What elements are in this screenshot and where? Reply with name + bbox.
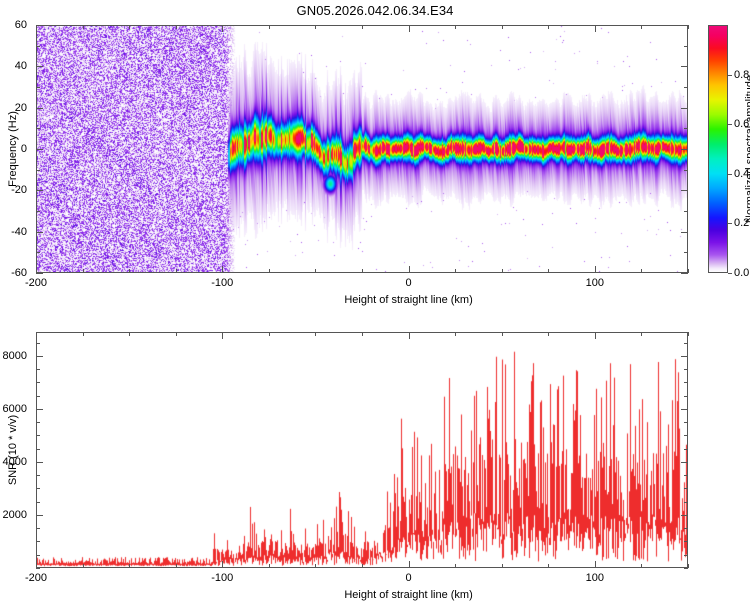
axis-tick bbox=[269, 25, 270, 29]
axis-tick bbox=[362, 564, 363, 568]
snr-ytick-label: 6000 bbox=[0, 403, 27, 415]
axis-tick bbox=[36, 25, 37, 32]
axis-tick bbox=[455, 25, 456, 29]
axis-tick bbox=[681, 25, 688, 26]
axis-tick bbox=[36, 475, 40, 476]
axis-tick bbox=[176, 25, 177, 29]
axis-tick bbox=[641, 332, 642, 336]
axis-tick bbox=[502, 269, 503, 273]
axis-tick bbox=[36, 488, 40, 489]
axis-tick bbox=[83, 332, 84, 336]
axis-tick bbox=[688, 269, 689, 273]
axis-tick bbox=[681, 409, 688, 410]
axis-tick bbox=[684, 382, 688, 383]
axis-tick bbox=[641, 25, 642, 29]
axis-tick bbox=[36, 422, 40, 423]
axis-tick bbox=[36, 555, 40, 556]
axis-tick bbox=[681, 66, 688, 67]
axis-tick bbox=[409, 266, 410, 273]
axis-tick bbox=[688, 25, 689, 29]
axis-tick bbox=[684, 343, 688, 344]
axis-tick bbox=[36, 541, 40, 542]
axis-tick bbox=[36, 502, 40, 503]
snr-xtick-label: -200 bbox=[25, 572, 47, 584]
axis-tick bbox=[36, 211, 40, 212]
axis-tick bbox=[684, 128, 688, 129]
axis-tick bbox=[362, 25, 363, 29]
axis-tick bbox=[36, 409, 43, 410]
axis-tick bbox=[36, 369, 40, 370]
axis-tick bbox=[548, 25, 549, 29]
axis-tick bbox=[36, 462, 43, 463]
axis-tick bbox=[548, 564, 549, 568]
axis-tick bbox=[362, 269, 363, 273]
axis-tick bbox=[455, 332, 456, 336]
axis-tick bbox=[36, 190, 43, 191]
axis-tick bbox=[681, 515, 688, 516]
axis-tick bbox=[222, 561, 223, 568]
axis-tick bbox=[684, 252, 688, 253]
axis-tick bbox=[222, 332, 223, 339]
axis-tick bbox=[641, 269, 642, 273]
axis-tick bbox=[595, 561, 596, 568]
axis-tick bbox=[502, 25, 503, 29]
spectrogram-plot-area bbox=[37, 26, 687, 272]
axis-tick bbox=[688, 564, 689, 568]
axis-tick bbox=[455, 564, 456, 568]
axis-tick bbox=[36, 561, 37, 568]
colorbar-tick bbox=[728, 124, 732, 125]
axis-tick bbox=[684, 449, 688, 450]
axis-tick bbox=[684, 46, 688, 47]
axis-tick bbox=[684, 396, 688, 397]
snr-xtick-label: 100 bbox=[586, 572, 604, 584]
snr-xtick-label: 0 bbox=[406, 572, 412, 584]
axis-tick bbox=[36, 356, 43, 357]
axis-tick bbox=[36, 108, 43, 109]
axis-tick bbox=[36, 266, 37, 273]
axis-tick bbox=[36, 396, 40, 397]
axis-tick bbox=[681, 149, 688, 150]
axis-tick bbox=[36, 252, 40, 253]
spectrogram-xtick-label: -200 bbox=[25, 277, 47, 289]
axis-tick bbox=[315, 269, 316, 273]
axis-tick bbox=[684, 528, 688, 529]
axis-tick bbox=[684, 555, 688, 556]
spectrogram-yaxis-title: Frequency (Hz) bbox=[7, 111, 19, 187]
axis-tick bbox=[36, 170, 40, 171]
spectrogram-xtick-label: 100 bbox=[586, 277, 604, 289]
axis-tick bbox=[269, 332, 270, 336]
axis-tick bbox=[36, 435, 40, 436]
colorbar-tick bbox=[728, 223, 732, 224]
snr-xtick-label: -100 bbox=[211, 572, 233, 584]
axis-tick bbox=[688, 332, 689, 336]
axis-tick bbox=[83, 564, 84, 568]
axis-tick bbox=[129, 564, 130, 568]
axis-tick bbox=[409, 332, 410, 339]
axis-tick bbox=[641, 564, 642, 568]
axis-tick bbox=[502, 332, 503, 336]
axis-tick bbox=[36, 232, 43, 233]
axis-tick bbox=[684, 211, 688, 212]
axis-tick bbox=[36, 25, 43, 26]
spectrogram-ytick-label: -40 bbox=[0, 226, 27, 238]
axis-tick bbox=[595, 332, 596, 339]
colorbar-tick bbox=[728, 75, 732, 76]
spectrogram-image bbox=[37, 26, 687, 272]
axis-tick bbox=[502, 564, 503, 568]
axis-tick bbox=[36, 149, 43, 150]
axis-tick bbox=[684, 541, 688, 542]
axis-tick bbox=[269, 564, 270, 568]
axis-tick bbox=[684, 170, 688, 171]
axis-tick bbox=[684, 488, 688, 489]
axis-tick bbox=[595, 25, 596, 32]
axis-tick bbox=[176, 269, 177, 273]
colorbar-tick bbox=[728, 273, 732, 274]
axis-tick bbox=[684, 87, 688, 88]
snr-ytick-label: 2000 bbox=[0, 509, 27, 521]
axis-tick bbox=[315, 332, 316, 336]
axis-tick bbox=[455, 269, 456, 273]
spectrogram-xtick-label: 0 bbox=[406, 277, 412, 289]
axis-tick bbox=[269, 269, 270, 273]
axis-tick bbox=[595, 266, 596, 273]
axis-tick bbox=[83, 269, 84, 273]
axis-tick bbox=[176, 332, 177, 336]
axis-tick bbox=[222, 266, 223, 273]
axis-tick bbox=[548, 269, 549, 273]
spectrogram-xtick-label: -100 bbox=[211, 277, 233, 289]
axis-tick bbox=[681, 273, 688, 274]
spectrogram-ytick-label: 60 bbox=[0, 19, 27, 31]
axis-tick bbox=[684, 475, 688, 476]
snr-plot-area bbox=[37, 333, 687, 567]
axis-tick bbox=[315, 25, 316, 29]
colorbar-gradient bbox=[708, 25, 728, 273]
axis-tick bbox=[36, 87, 40, 88]
colorbar-tick-label: 0.0 bbox=[734, 267, 749, 279]
axis-tick bbox=[222, 25, 223, 32]
axis-tick bbox=[36, 46, 40, 47]
axis-tick bbox=[36, 273, 43, 274]
spectrogram-panel bbox=[36, 25, 688, 273]
axis-tick bbox=[681, 462, 688, 463]
page-title: GN05.2026.042.06.34.E34 bbox=[0, 3, 750, 18]
spectrogram-xaxis-title: Height of straight line (km) bbox=[344, 294, 472, 306]
axis-tick bbox=[36, 66, 43, 67]
axis-tick bbox=[315, 564, 316, 568]
snr-xaxis-title: Height of straight line (km) bbox=[344, 589, 472, 601]
axis-tick bbox=[36, 528, 40, 529]
axis-tick bbox=[684, 422, 688, 423]
axis-tick bbox=[36, 449, 40, 450]
figure-root: GN05.2026.042.06.34.E34 -200-1000100-60-… bbox=[0, 0, 750, 600]
spectrogram-ytick-label: -60 bbox=[0, 267, 27, 279]
axis-tick bbox=[36, 382, 40, 383]
axis-tick bbox=[684, 568, 688, 569]
axis-tick bbox=[548, 332, 549, 336]
snr-panel bbox=[36, 332, 688, 568]
axis-tick bbox=[36, 343, 40, 344]
axis-tick bbox=[83, 25, 84, 29]
snr-ytick-label: 8000 bbox=[0, 350, 27, 362]
axis-tick bbox=[684, 435, 688, 436]
colorbar bbox=[708, 25, 728, 273]
spectrogram-ytick-label: 40 bbox=[0, 60, 27, 72]
colorbar-title: Normalized spectral amplitude bbox=[744, 75, 750, 223]
axis-tick bbox=[176, 564, 177, 568]
axis-tick bbox=[362, 332, 363, 336]
axis-tick bbox=[681, 108, 688, 109]
axis-tick bbox=[684, 369, 688, 370]
axis-tick bbox=[684, 502, 688, 503]
axis-tick bbox=[129, 25, 130, 29]
axis-tick bbox=[36, 515, 43, 516]
axis-tick bbox=[681, 190, 688, 191]
axis-tick bbox=[409, 25, 410, 32]
colorbar-tick bbox=[728, 174, 732, 175]
axis-tick bbox=[129, 269, 130, 273]
axis-tick bbox=[36, 568, 40, 569]
axis-tick bbox=[129, 332, 130, 336]
axis-tick bbox=[681, 232, 688, 233]
axis-tick bbox=[681, 356, 688, 357]
snr-trace bbox=[37, 333, 687, 567]
axis-tick bbox=[36, 128, 40, 129]
axis-tick bbox=[409, 561, 410, 568]
axis-tick bbox=[36, 332, 37, 339]
snr-yaxis-title: SNR (10 * v/v) bbox=[7, 415, 19, 485]
